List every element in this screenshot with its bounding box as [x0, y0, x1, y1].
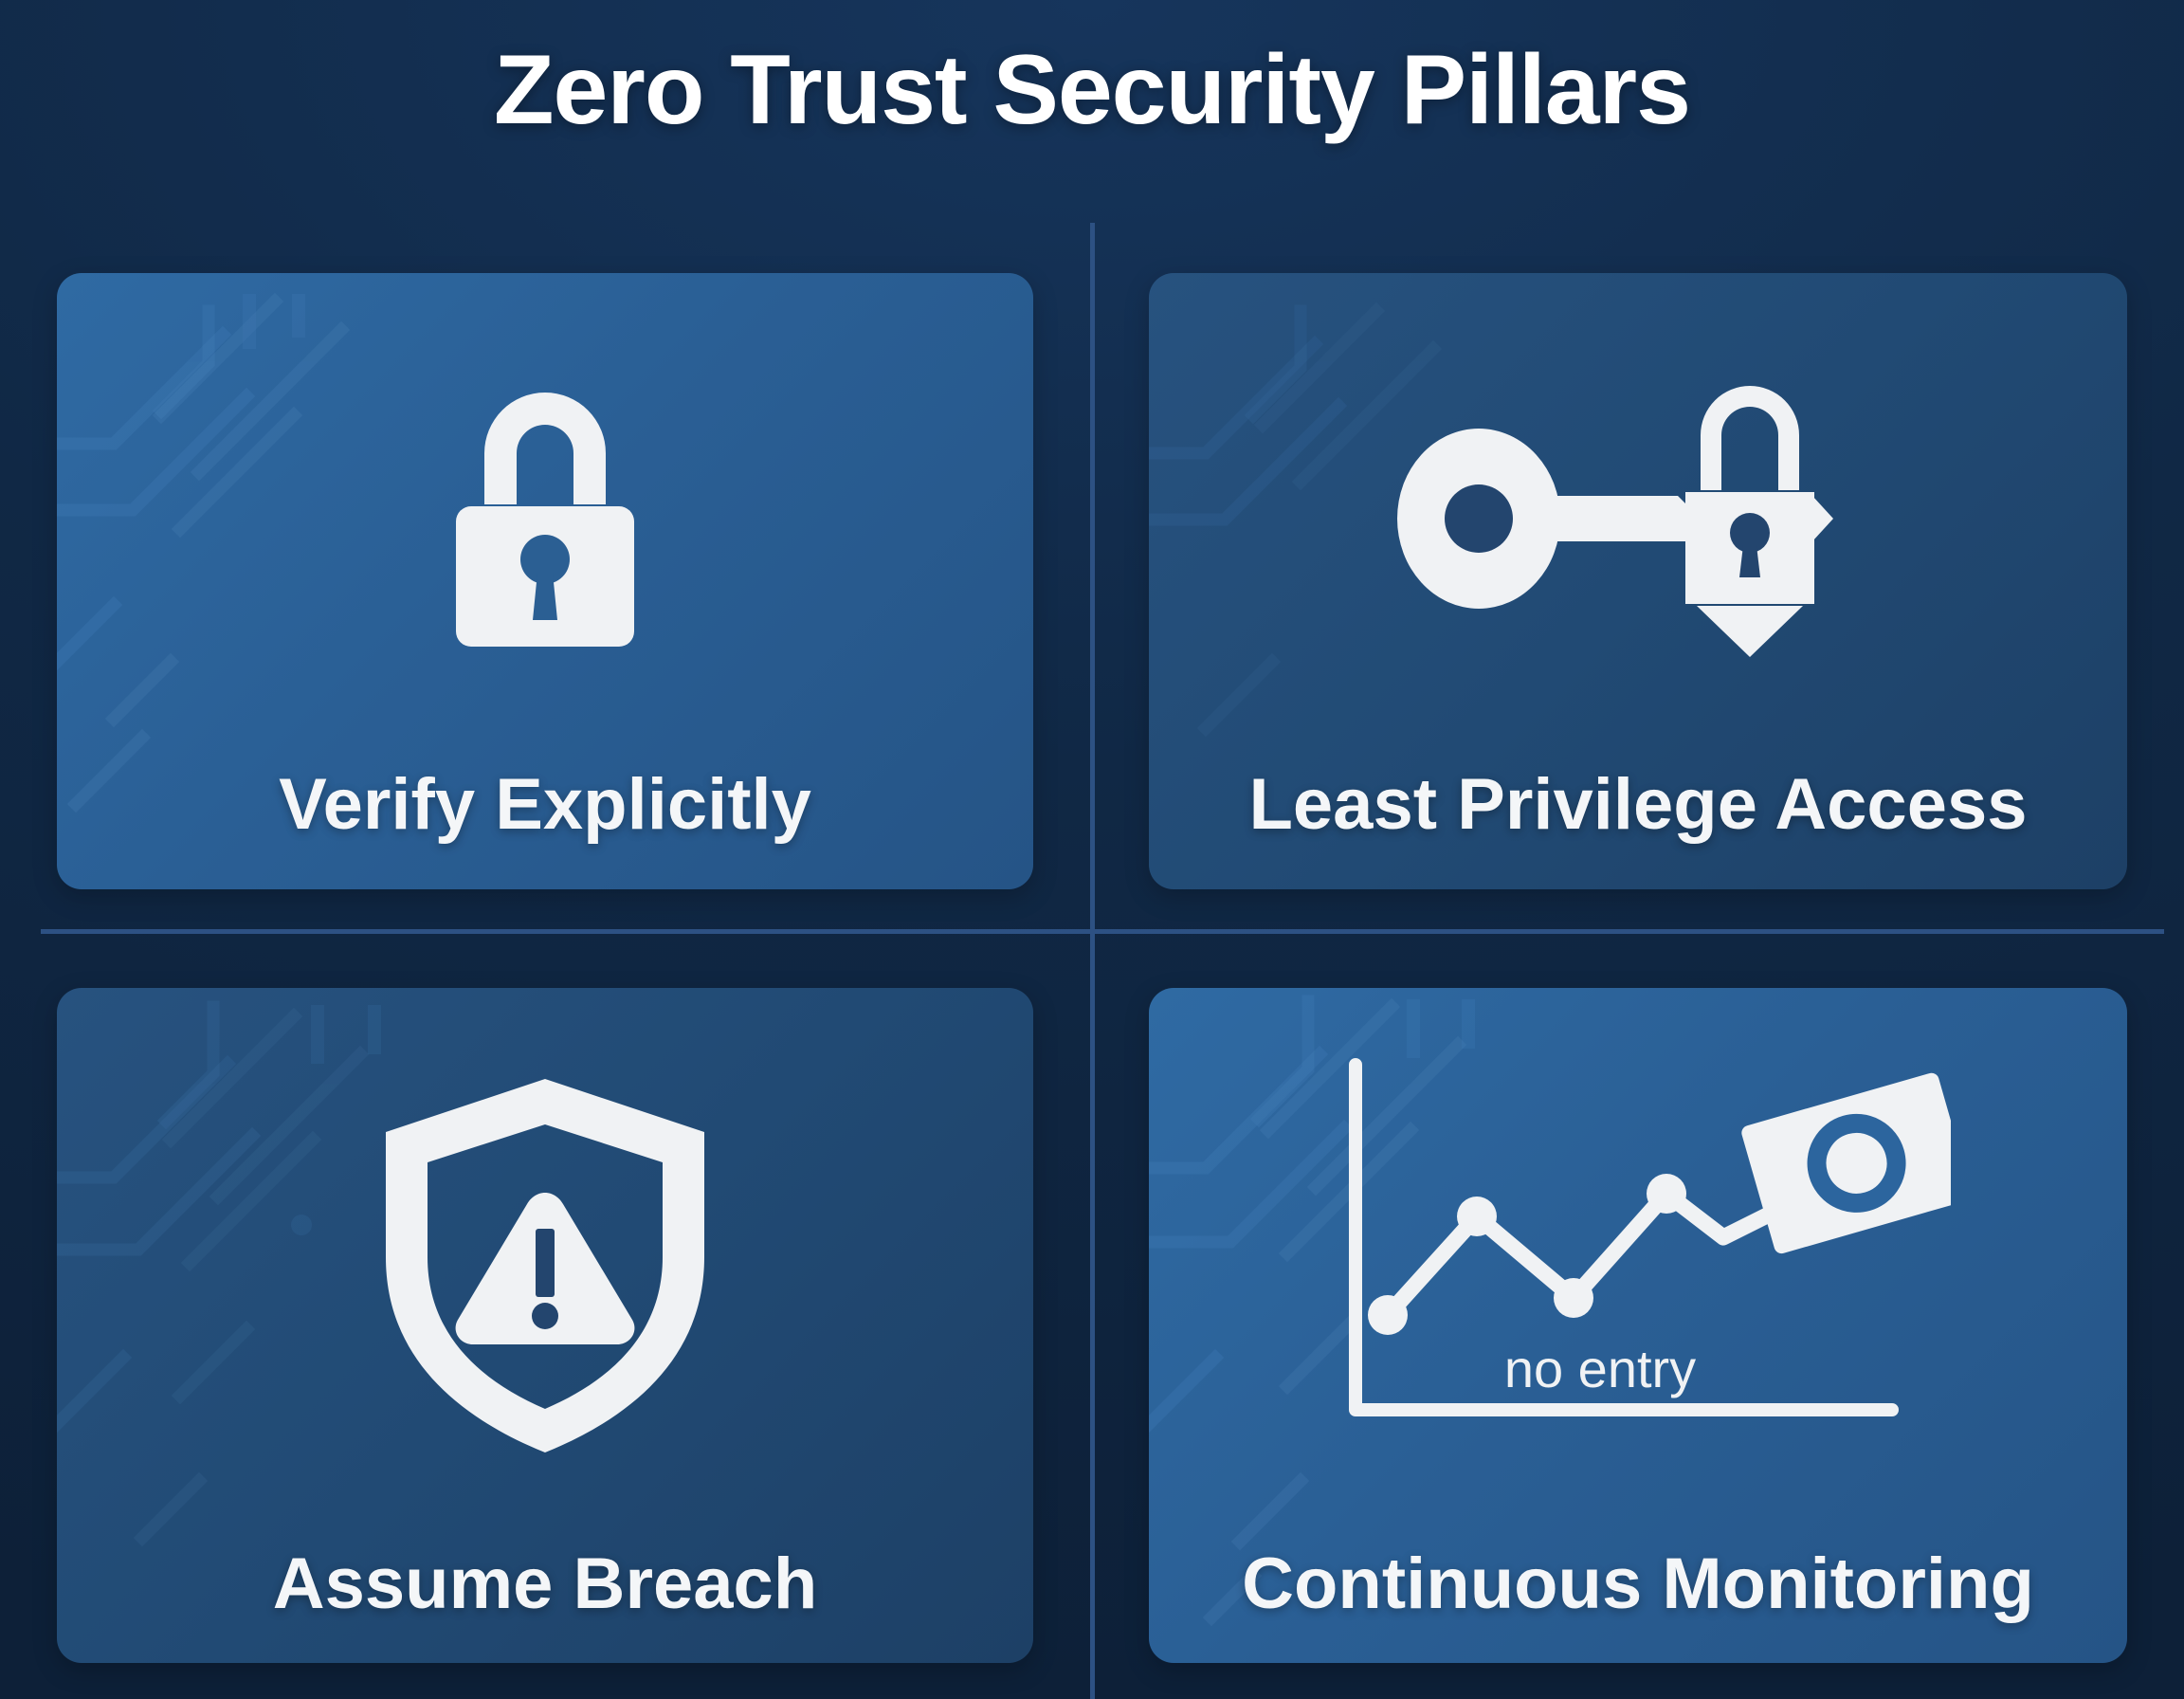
shield-warning-icon: [374, 1071, 716, 1460]
key-and-padlock-icon-area: [1149, 273, 2127, 763]
chart-point: [1554, 1278, 1593, 1318]
padlock-icon: [393, 362, 697, 675]
icon-caption: no entry: [1504, 1339, 1696, 1398]
pillar-card-assume-breach[interactable]: Assume Breach: [57, 988, 1033, 1663]
line-chart-camera-icon-area: no entry: [1149, 988, 2127, 1543]
horizontal-divider: [41, 929, 2164, 934]
key-and-padlock-icon: [1392, 376, 1884, 661]
padlock-icon-area: [57, 273, 1033, 763]
line-chart-camera-icon: no entry: [1325, 1057, 1951, 1474]
page-title: Zero Trust Security Pillars: [0, 34, 2184, 147]
pillar-card-continuous-monitoring[interactable]: no entry Continuous Monitoring: [1149, 988, 2127, 1663]
pillar-card-verify-explicitly[interactable]: Verify Explicitly: [57, 273, 1033, 889]
card-label-verify-explicitly: Verify Explicitly: [57, 763, 1033, 889]
chart-point: [1457, 1197, 1497, 1236]
vertical-divider: [1090, 223, 1095, 1699]
card-label-assume-breach: Assume Breach: [57, 1543, 1033, 1663]
chart-point: [1368, 1295, 1408, 1335]
chart-point: [1647, 1174, 1686, 1214]
shield-warning-icon-area: [57, 988, 1033, 1543]
card-label-continuous-monitoring: Continuous Monitoring: [1149, 1543, 2127, 1663]
card-label-least-privilege-access: Least Privilege Access: [1149, 763, 2127, 889]
pillar-card-least-privilege-access[interactable]: Least Privilege Access: [1149, 273, 2127, 889]
